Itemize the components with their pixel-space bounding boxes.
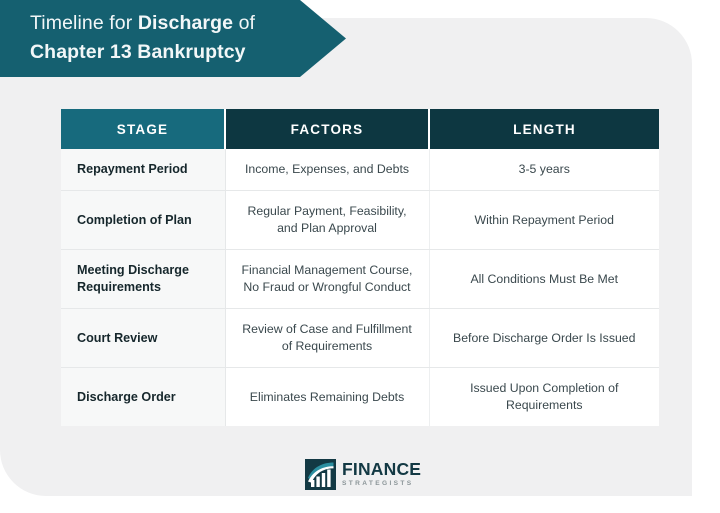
table-row: Completion of Plan Regular Payment, Feas… bbox=[61, 191, 659, 250]
table-row: Court Review Review of Case and Fulfillm… bbox=[61, 309, 659, 368]
cell-factors: Eliminates Remaining Debts bbox=[225, 368, 429, 427]
table-row: Repayment Period Income, Expenses, and D… bbox=[61, 149, 659, 191]
table-header: STAGE FACTORS LENGTH bbox=[61, 109, 659, 149]
cell-stage: Discharge Order bbox=[61, 368, 225, 427]
table-row: Discharge Order Eliminates Remaining Deb… bbox=[61, 368, 659, 427]
column-header-factors: FACTORS bbox=[225, 109, 429, 149]
table-body: Repayment Period Income, Expenses, and D… bbox=[61, 149, 659, 426]
page-title: Timeline for Discharge of Chapter 13 Ban… bbox=[30, 9, 300, 67]
logo-wordmark: FINANCE STRATEGISTS bbox=[342, 461, 421, 487]
cell-length: 3-5 years bbox=[429, 149, 659, 191]
cell-length: Before Discharge Order Is Issued bbox=[429, 309, 659, 368]
infographic-page: Timeline for Discharge of Chapter 13 Ban… bbox=[0, 0, 720, 513]
logo-primary-text: FINANCE bbox=[342, 461, 421, 479]
cell-factors: Review of Case and Fulfillment of Requir… bbox=[225, 309, 429, 368]
finance-strategists-logo: FINANCE STRATEGISTS bbox=[305, 459, 421, 490]
cell-stage: Completion of Plan bbox=[61, 191, 225, 250]
cell-factors: Regular Payment, Feasibility, and Plan A… bbox=[225, 191, 429, 250]
title-text-bold1: Discharge bbox=[138, 12, 233, 34]
column-header-length: LENGTH bbox=[429, 109, 659, 149]
title-text-part2: of bbox=[233, 12, 255, 34]
logo-mark-icon bbox=[305, 459, 336, 490]
cell-length: All Conditions Must Be Met bbox=[429, 250, 659, 309]
column-header-stage: STAGE bbox=[61, 109, 225, 149]
title-banner: Timeline for Discharge of Chapter 13 Ban… bbox=[0, 0, 346, 77]
cell-stage: Repayment Period bbox=[61, 149, 225, 191]
cell-factors: Income, Expenses, and Debts bbox=[225, 149, 429, 191]
timeline-table: STAGE FACTORS LENGTH Repayment Period In… bbox=[61, 109, 659, 426]
cell-factors: Financial Management Course, No Fraud or… bbox=[225, 250, 429, 309]
title-text-bold2: Chapter 13 Bankruptcy bbox=[30, 41, 246, 63]
table-header-row: STAGE FACTORS LENGTH bbox=[61, 109, 659, 149]
title-text-part1: Timeline for bbox=[30, 12, 138, 34]
table-row: Meeting Discharge Requirements Financial… bbox=[61, 250, 659, 309]
cell-length: Issued Upon Completion of Requirements bbox=[429, 368, 659, 427]
cell-length: Within Repayment Period bbox=[429, 191, 659, 250]
logo-secondary-text: STRATEGISTS bbox=[342, 481, 421, 488]
cell-stage: Court Review bbox=[61, 309, 225, 368]
cell-stage: Meeting Discharge Requirements bbox=[61, 250, 225, 309]
